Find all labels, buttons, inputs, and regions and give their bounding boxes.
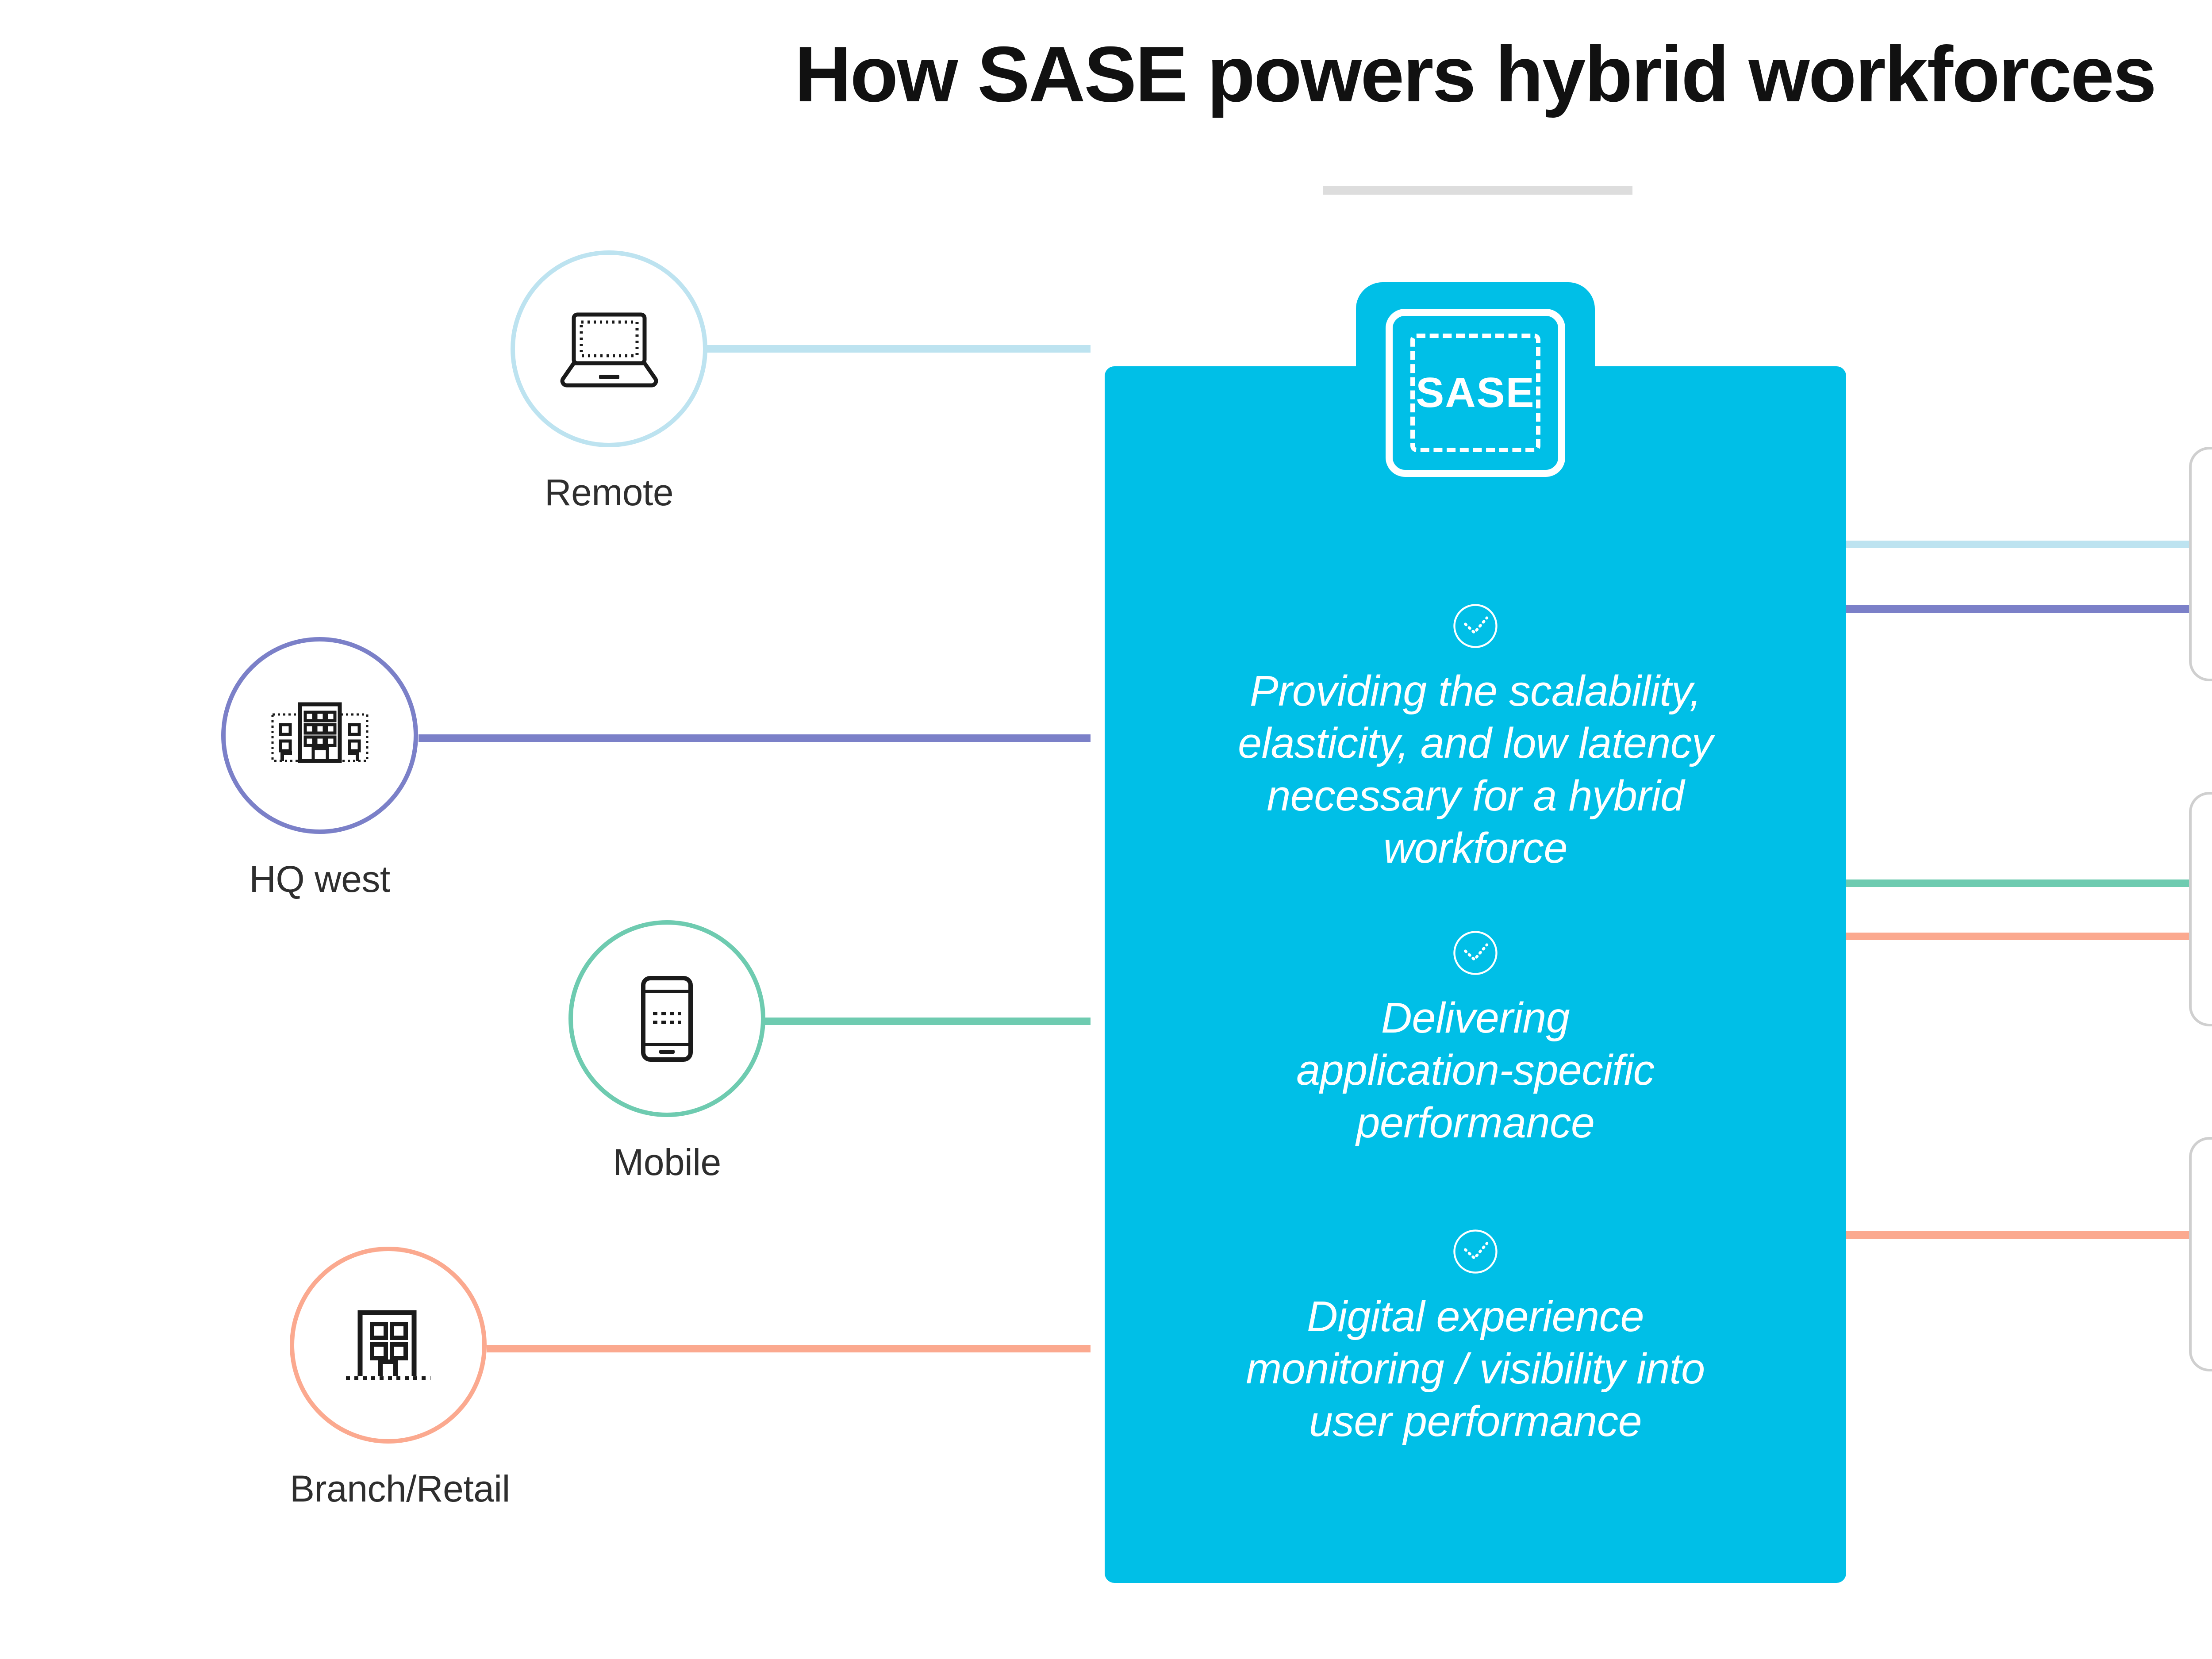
connector-sase-to-dc1-green — [1846, 879, 2196, 887]
endpoint-circle — [290, 1247, 487, 1444]
destination-box — [2189, 447, 2212, 681]
endpoint-label: HQ west — [221, 858, 418, 901]
benefit-item: Digital experience monitoring / visibili… — [1105, 1228, 1846, 1448]
endpoint-hq-west[interactable]: HQ west — [221, 637, 418, 901]
connector-remote-to-sase — [686, 345, 1091, 353]
page-title: How SASE powers hybrid workforces — [0, 33, 2212, 116]
connector-sase-to-cloud-purple — [1846, 605, 2189, 613]
connector-sase-to-dc1-salmon — [1846, 933, 2193, 940]
sase-badge: SASE — [1356, 282, 1595, 503]
connector-sase-to-dc2-salmon — [1846, 1231, 2196, 1239]
connector-mobile-to-sase — [748, 1018, 1091, 1025]
title-divider — [1323, 186, 1632, 195]
destination-box — [2189, 1137, 2212, 1371]
endpoint-branch-retail[interactable]: Branch/Retail — [290, 1247, 510, 1510]
check-circle-icon — [1452, 602, 1499, 650]
endpoint-label: Mobile — [568, 1141, 765, 1184]
sase-badge-label: SASE — [1416, 372, 1535, 414]
destination-box — [2189, 792, 2212, 1026]
endpoint-circle — [221, 637, 418, 834]
connector-branch-to-sase — [487, 1345, 1091, 1352]
endpoint-label: Remote — [511, 471, 707, 514]
check-circle-icon — [1452, 1228, 1499, 1275]
endpoint-mobile[interactable]: Mobile — [568, 920, 765, 1184]
benefit-text: Delivering application-specific performa… — [1105, 992, 1846, 1149]
benefit-item: Providing the scalability, elasticity, a… — [1105, 602, 1846, 874]
destination-dc-1-east[interactable]: DC-1 east — [2189, 792, 2212, 1026]
connector-sase-to-cloud-blue — [1846, 541, 2189, 548]
sase-shield-icon: SASE — [1386, 309, 1565, 477]
endpoint-label: Branch/Retail — [290, 1467, 510, 1510]
benefit-item: Delivering application-specific performa… — [1105, 929, 1846, 1149]
destination-cloud-services[interactable]: Cloud services — [2189, 447, 2212, 681]
check-circle-icon — [1452, 929, 1499, 977]
mobile-phone-icon — [637, 975, 697, 1063]
office-building-icon — [265, 699, 375, 772]
endpoint-circle — [511, 250, 707, 447]
endpoint-remote[interactable]: Remote — [511, 250, 707, 514]
sase-dashed-border: SASE — [1410, 334, 1540, 452]
benefit-text: Digital experience monitoring / visibili… — [1105, 1290, 1846, 1448]
benefit-text: Providing the scalability, elasticity, a… — [1105, 665, 1846, 874]
endpoint-circle — [568, 920, 765, 1117]
destination-dc-2-west[interactable]: DC-2 west — [2189, 1137, 2212, 1371]
connector-hqwest-to-sase — [419, 734, 1091, 742]
branch-building-icon — [341, 1306, 436, 1384]
laptop-icon — [558, 309, 660, 389]
diagram-canvas: How SASE powers hybrid workforces SASE P… — [0, 0, 2212, 1659]
